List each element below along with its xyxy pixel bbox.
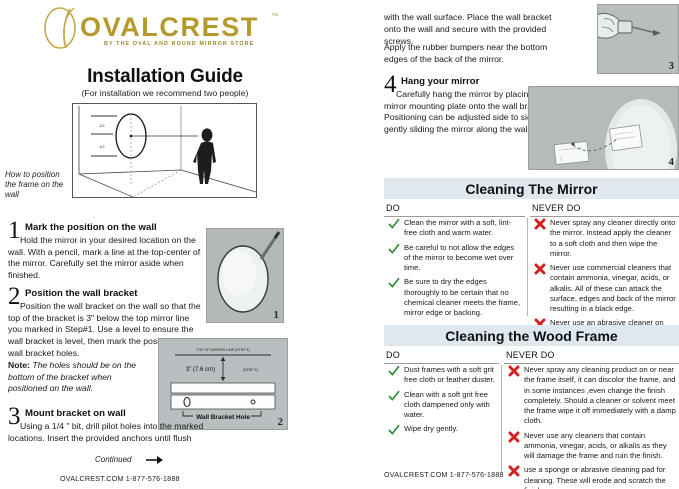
x-mark-icon [534, 263, 546, 275]
bracket-measure-step: (STEP 2) [243, 368, 258, 372]
list-item-text: Clean with a soft grit free cloth dampen… [404, 390, 490, 420]
cleaning-wood-title: Cleaning the Wood Frame [384, 325, 679, 346]
column-divider [527, 218, 528, 316]
room-perspective-svg: 1/2 1/2 [73, 104, 256, 197]
divider-do [384, 363, 499, 364]
list-item: Be sure to dry the edges thoroughly to b… [388, 277, 522, 318]
svg-text:1/2: 1/2 [99, 123, 105, 128]
x-mark-icon [508, 465, 520, 477]
cleaning-wood-columns: Dust frames with a soft grit free cloth … [384, 365, 679, 475]
mounting-plate-illustration: ) [529, 87, 678, 169]
cleaning-wood-frame-section: Cleaning the Wood Frame DO NEVER DO Dust… [384, 325, 679, 475]
do-label: DO [386, 203, 400, 213]
bracket-measure-label: 3" (7.6 cm) [186, 367, 215, 373]
panel-number: 2 [278, 416, 284, 428]
list-item-text: Dust frames with a soft grit free cloth … [404, 365, 495, 384]
continued-label: Continued [95, 455, 131, 464]
page-subtitle: (For installation we recommend two peopl… [0, 88, 330, 98]
figure-caption: How to position the frame on the wall [5, 170, 73, 200]
note-label: Note: [8, 360, 30, 370]
panel-number: 1 [274, 309, 280, 321]
room-position-diagram: 1/2 1/2 [72, 103, 257, 198]
list-item-text: Be careful to not allow the edges of the… [404, 243, 514, 273]
list-item: Clean the mirror with a soft, lint-free … [388, 218, 522, 239]
brand-tagline: BY THE OVAL AND ROUND MIRROR STORE [104, 41, 254, 47]
left-column: OVALCREST ™ BY THE OVAL AND ROUND MIRROR… [0, 0, 372, 489]
step-3-number: 3 [8, 404, 21, 429]
check-icon [388, 218, 400, 230]
never-do-label: NEVER DO [532, 203, 581, 213]
list-item: Dust frames with a soft grit free cloth … [388, 365, 496, 386]
screwdriver-illustration [598, 5, 678, 73]
check-icon [388, 365, 400, 377]
footer-contact-left: OVALCREST.COM 1-877-576-1888 [60, 474, 180, 483]
list-item: Never spray any cleaning product on or n… [508, 365, 676, 427]
wood-never-list: Never spray any cleaning product on or n… [508, 365, 676, 489]
cleaning-mirror-title: Cleaning The Mirror [384, 178, 679, 199]
list-item-text: Be sure to dry the edges thoroughly to b… [404, 277, 520, 317]
bracket-top-line-label: TOP OF MIRROR LINE (STEP 1) [196, 348, 250, 352]
wood-do-list: Dust frames with a soft grit free cloth … [388, 365, 496, 439]
mounting-plate-photo: ) 4 [528, 86, 679, 170]
step-2-note: Note: The holes should be on the bottom … [8, 360, 150, 395]
check-icon [388, 390, 400, 402]
page-title: Installation Guide [0, 66, 330, 88]
never-do-label: NEVER DO [506, 350, 555, 360]
list-item-text: use a sponge or abrasive cleaning pad fo… [524, 465, 666, 489]
list-item-text: Never use commercial cleaners that conta… [550, 263, 676, 313]
continued-arrow-icon [146, 455, 164, 465]
step-3-heading: Mount bracket on wall [25, 408, 240, 419]
list-item: Never use commercial cleaners that conta… [534, 263, 676, 314]
svg-text:1/2: 1/2 [99, 144, 105, 149]
list-item-text: Clean the mirror with a soft, lint-free … [404, 218, 511, 237]
step-2-heading: Position the wall bracket [25, 288, 240, 299]
mirror-do-list: Clean the mirror with a soft, lint-free … [388, 218, 522, 322]
step-1-number: 1 [8, 218, 21, 243]
list-item-text: Never spray any cleaning product on or n… [524, 365, 676, 425]
do-label: DO [386, 350, 400, 360]
list-item: Clean with a soft grit free cloth dampen… [388, 390, 496, 421]
list-item-text: Wipe dry gently. [404, 424, 458, 433]
divider-never [504, 363, 679, 364]
step-3-body: Using a 1/4 " bit, drill pilot holes int… [8, 421, 226, 444]
panel-number: 4 [669, 156, 675, 168]
cleaning-mirror-columns: Clean the mirror with a soft, lint-free … [384, 218, 679, 318]
step-2-number: 2 [8, 284, 21, 309]
x-mark-icon [508, 365, 520, 377]
list-item-text: Never use any cleaners that contain ammo… [524, 431, 667, 461]
list-item-text: Never spray any cleaner directly onto th… [550, 218, 675, 258]
list-item: Never spray any cleaner directly onto th… [534, 218, 676, 259]
step-4-number: 4 [384, 72, 397, 97]
list-item: Wipe dry gently. [388, 424, 496, 434]
brand-logo: OVALCREST ™ BY THE OVAL AND ROUND MIRROR… [38, 8, 298, 52]
installation-guide-page: OVALCREST ™ BY THE OVAL AND ROUND MIRROR… [0, 0, 679, 489]
cleaning-mirror-section: Cleaning The Mirror DO NEVER DO Clean th… [384, 178, 679, 318]
x-mark-icon [534, 218, 546, 230]
footer-contact-right: OVALCREST.COM 1-877-576-1888 [384, 470, 504, 479]
check-icon [388, 277, 400, 289]
list-item: use a sponge or abrasive cleaning pad fo… [508, 465, 676, 489]
check-icon [388, 424, 400, 436]
list-item: Never use any cleaners that contain ammo… [508, 431, 676, 462]
column-divider [501, 365, 502, 473]
panel-number: 3 [669, 60, 675, 72]
x-mark-icon [508, 431, 520, 443]
list-item: Be careful to not allow the edges of the… [388, 243, 522, 274]
right-column: with the wall surface. Place the wall br… [384, 0, 679, 489]
right-paragraph-2: Apply the rubber bumpers near the bottom… [384, 42, 569, 66]
cleaning-mirror-column-headers: DO NEVER DO [384, 199, 679, 218]
divider-do [384, 216, 525, 217]
cleaning-wood-column-headers: DO NEVER DO [384, 346, 679, 365]
step-3: 3 Mount bracket on wall Using a 1/4 " bi… [8, 408, 240, 444]
screwdriver-photo: 3 [597, 4, 679, 74]
trademark-symbol: ™ [271, 13, 278, 20]
step-1-body: Hold the mirror in your desired location… [8, 235, 206, 282]
divider-never [530, 216, 679, 217]
brand-name: OVALCREST [80, 12, 259, 43]
check-icon [388, 243, 400, 255]
